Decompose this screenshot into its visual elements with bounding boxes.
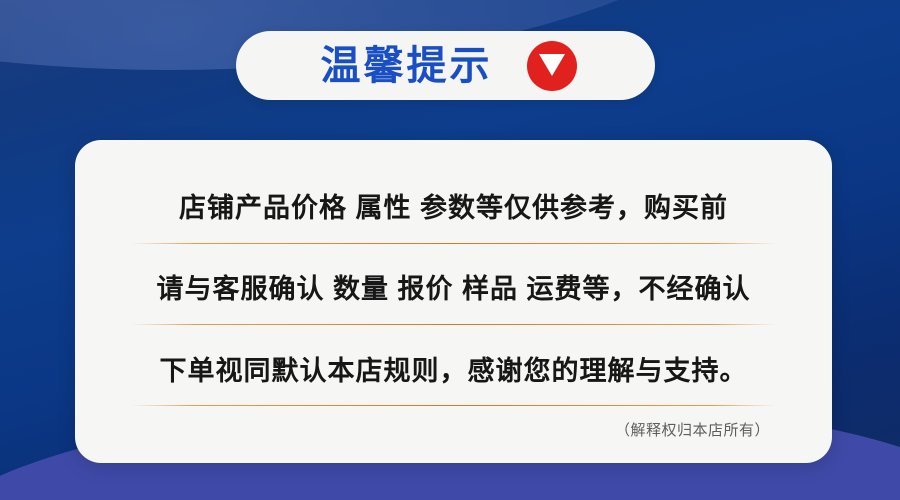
triangle-glyph (539, 54, 565, 76)
notice-line-2: 请与客服确认 数量 报价 样品 运费等，不经确认 (123, 273, 784, 307)
notice-card: 店铺产品价格 属性 参数等仅供参考，购买前 请与客服确认 数量 报价 样品 运费… (75, 140, 832, 463)
notice-divider-1 (131, 243, 776, 244)
notice-line-3: 下单视同默认本店规则，感谢您的理解与支持。 (123, 355, 784, 389)
page-title: 温馨提示 (315, 46, 493, 86)
copyright-footnote: （解释权归本店所有） (123, 419, 784, 440)
promo-banner: 温馨提示 店铺产品价格 属性 参数等仅供参考，购买前 请与客服确认 数量 报价 … (0, 0, 900, 500)
warning-triangle-icon (527, 41, 577, 91)
notice-divider-2 (131, 324, 776, 325)
header-pill: 温馨提示 (236, 31, 655, 100)
notice-divider-3 (131, 405, 776, 406)
notice-line-1: 店铺产品价格 属性 参数等仅供参考，购买前 (123, 192, 784, 226)
